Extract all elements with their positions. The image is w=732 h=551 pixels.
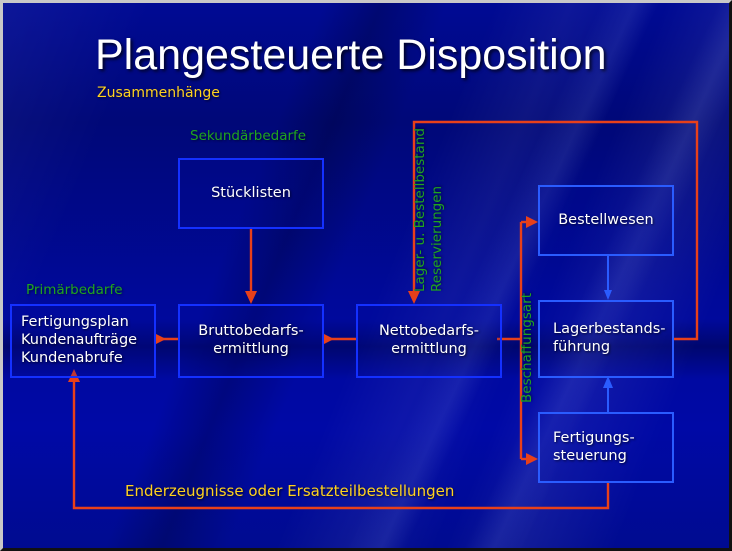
annotation-reservierungen: Reservierungen — [429, 186, 445, 292]
box-nettobedarfsermittlung[interactable]: Nettobedarfs- ermittlung — [356, 304, 502, 378]
box-lagerbestandsfuehrung[interactable]: Lagerbestands- führung — [538, 300, 674, 378]
annotation-sekundaerbedarfe: Sekundärbedarfe — [190, 128, 306, 144]
box-bruttobedarfsermittlung[interactable]: Bruttobedarfs- ermittlung — [178, 304, 324, 378]
flow-caption: Enderzeugnisse oder Ersatzteilbestellung… — [125, 482, 454, 500]
box-bestellwesen[interactable]: Bestellwesen — [538, 185, 674, 256]
box-stuecklisten[interactable]: Stücklisten — [178, 158, 324, 229]
box-fertigungssteuerung[interactable]: Fertigungs- steuerung — [538, 412, 674, 483]
annotation-beschaffungsart: Beschaffungsart — [519, 293, 535, 403]
annotation-primaerbedarfe: Primärbedarfe — [26, 282, 123, 298]
slide-canvas: Plangesteuerte Disposition Zusammenhänge — [0, 0, 732, 551]
box-primaerinput[interactable]: Fertigungsplan Kundenaufträge Kundenabru… — [10, 304, 156, 378]
annotation-lager-u-bestellbestand: Lager- u. Bestellbestand — [412, 128, 428, 292]
